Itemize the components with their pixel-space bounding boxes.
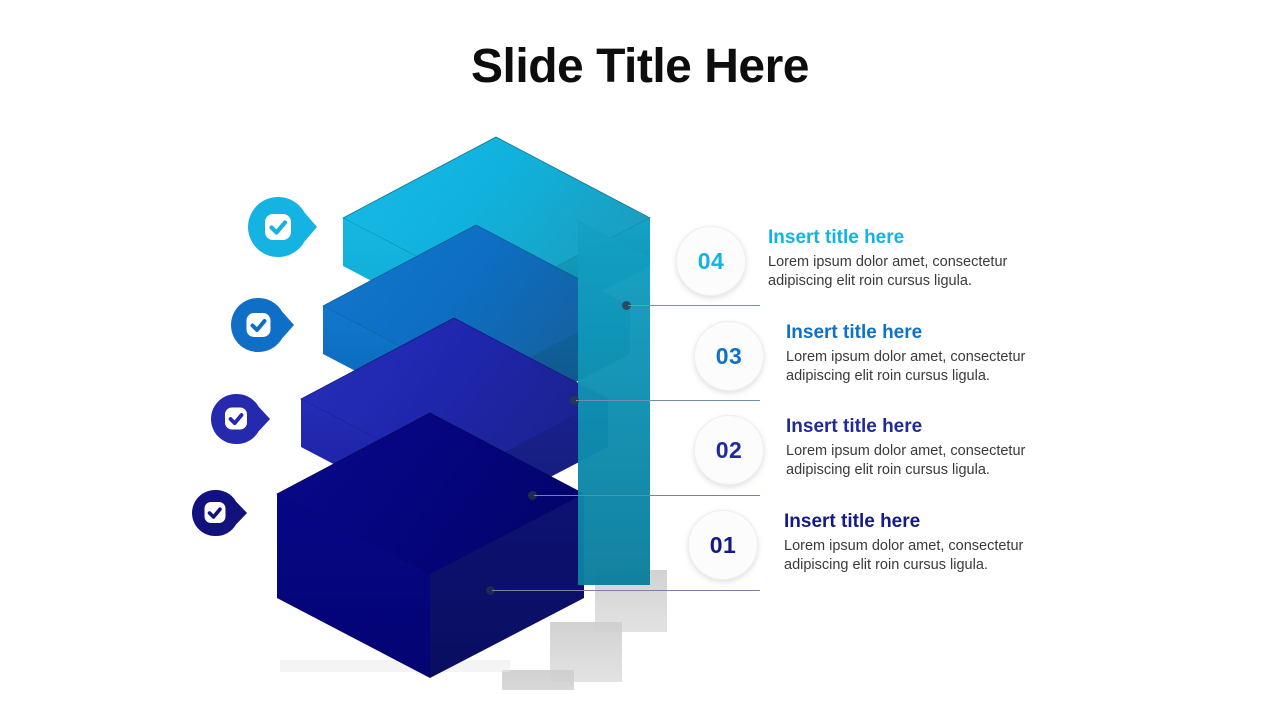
- badge-04[interactable]: [247, 196, 319, 258]
- item-title-01: Insert title here: [784, 510, 1264, 534]
- item-number-03: 03: [694, 321, 764, 391]
- list-item-02[interactable]: 02 Insert title here Lorem ipsum dolor a…: [676, 415, 1276, 511]
- check-circle-pin-icon: [230, 297, 296, 353]
- item-text-04: Insert title here Lorem ipsum dolor amet…: [768, 226, 1248, 291]
- list-item-03[interactable]: 03 Insert title here Lorem ipsum dolor a…: [676, 321, 1276, 417]
- list-item-04[interactable]: 04 Insert title here Lorem ipsum dolor a…: [676, 226, 1276, 322]
- item-title-04: Insert title here: [768, 226, 1248, 250]
- item-title-03: Insert title here: [786, 321, 1266, 345]
- item-description-02: Lorem ipsum dolor amet, consectetur adip…: [786, 442, 1086, 480]
- item-number-02: 02: [694, 415, 764, 485]
- slide-canvas: Slide Title Here: [0, 0, 1280, 720]
- badge-01[interactable]: [191, 489, 249, 537]
- item-text-03: Insert title here Lorem ipsum dolor amet…: [786, 321, 1266, 386]
- item-description-01: Lorem ipsum dolor amet, consectetur adip…: [784, 537, 1084, 575]
- item-text-01: Insert title here Lorem ipsum dolor amet…: [784, 510, 1264, 575]
- items-list: 04 Insert title here Lorem ipsum dolor a…: [676, 0, 1276, 720]
- item-title-02: Insert title here: [786, 415, 1266, 439]
- badge-03[interactable]: [230, 297, 296, 353]
- check-circle-pin-icon: [191, 489, 249, 537]
- item-number-01: 01: [688, 510, 758, 580]
- item-number-04: 04: [676, 226, 746, 296]
- check-circle-pin-icon: [210, 393, 272, 445]
- item-description-03: Lorem ipsum dolor amet, consectetur adip…: [786, 348, 1086, 386]
- check-circle-pin-icon: [247, 196, 319, 258]
- badge-02[interactable]: [210, 393, 272, 445]
- list-item-01[interactable]: 01 Insert title here Lorem ipsum dolor a…: [676, 510, 1276, 606]
- item-description-04: Lorem ipsum dolor amet, consectetur adip…: [768, 253, 1068, 291]
- item-text-02: Insert title here Lorem ipsum dolor amet…: [786, 415, 1266, 480]
